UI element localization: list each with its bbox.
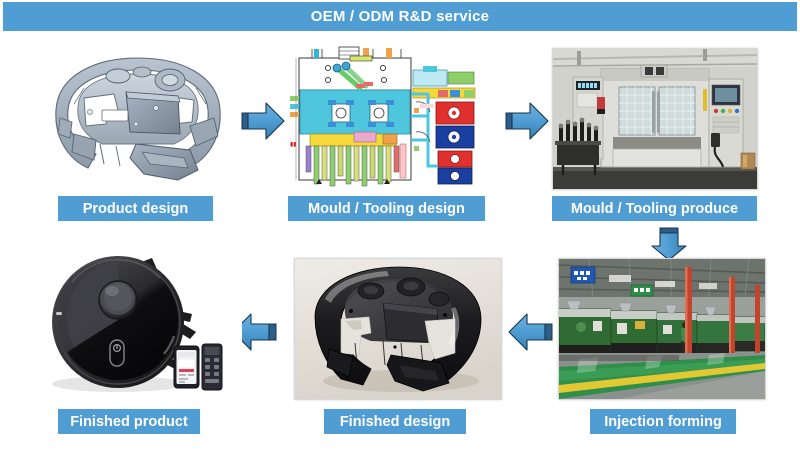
image-finished-design: [294, 258, 502, 400]
image-injection-forming: [558, 258, 766, 400]
page-title: OEM / ODM R&D service: [311, 8, 489, 25]
caption-finished-design: Finished design: [324, 409, 466, 434]
caption-finished-product-label: Finished product: [70, 414, 188, 430]
cad-chassis-render-icon: [38, 48, 238, 188]
caption-mould-tooling-produce: Mould / Tooling produce: [552, 196, 757, 221]
caption-finished-product: Finished product: [58, 409, 200, 434]
caption-product-design-label: Product design: [83, 201, 189, 217]
caption-injection-forming-label: Injection forming: [604, 414, 722, 430]
robot-vacuum-render-icon: [34, 252, 242, 402]
caption-mould-tooling-design-label: Mould / Tooling design: [308, 201, 465, 217]
arrow-left-icon-1: [506, 310, 554, 354]
image-finished-product: [34, 252, 242, 402]
arrow-down-icon: [648, 226, 690, 262]
caption-mould-tooling-produce-label: Mould / Tooling produce: [571, 201, 738, 217]
caption-mould-tooling-design: Mould / Tooling design: [288, 196, 485, 221]
injection-moulding-factory-photo-icon: [559, 259, 765, 399]
black-moulded-chassis-photo-icon: [295, 259, 501, 399]
caption-injection-forming: Injection forming: [590, 409, 736, 434]
arrow-right-icon-2: [504, 100, 550, 142]
image-mould-tooling-produce: [552, 48, 758, 190]
image-mould-tooling-design: ▮▮: [288, 46, 484, 190]
header-bar: OEM / ODM R&D service: [3, 2, 797, 31]
arrow-right-icon-1: [240, 100, 286, 142]
image-product-design: [38, 48, 238, 188]
mould-cad-drawing-icon: ▮▮: [288, 46, 484, 190]
caption-product-design: Product design: [58, 196, 213, 221]
svg-text:▮▮: ▮▮: [290, 141, 297, 148]
cnc-machining-center-photo-icon: [553, 49, 757, 189]
caption-finished-design-label: Finished design: [340, 414, 450, 430]
